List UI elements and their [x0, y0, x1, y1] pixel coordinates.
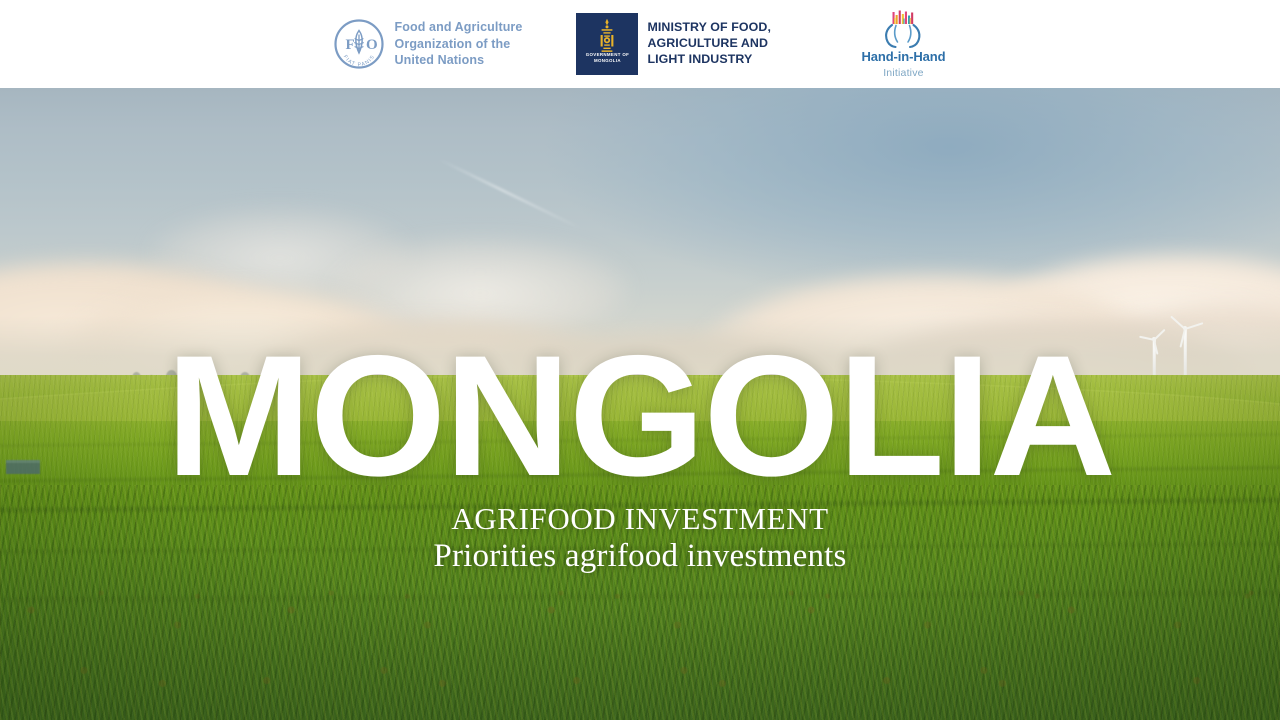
hand-in-hand-subtitle: Initiative — [883, 67, 924, 79]
hand-in-hand-logo: Hand-in-Hand Initiative — [861, 9, 945, 78]
hero-title-block: MONGOLIA — [0, 344, 1280, 488]
svg-text:FIAT PANIS: FIAT PANIS — [341, 54, 376, 68]
hero-subtitle-primary: AGRIFOOD INVESTMENT — [0, 502, 1280, 536]
fao-text-line-2: Organization of the — [395, 36, 523, 53]
logo-row: F O FIAT PANIS Food and Agriculture Orga… — [0, 0, 1280, 88]
hand-in-hand-hands-icon — [872, 9, 934, 49]
presentation-slide: F O FIAT PANIS Food and Agriculture Orga… — [0, 0, 1280, 720]
fao-text-line-1: Food and Agriculture — [395, 19, 523, 36]
ministry-logo: GOVERNMENT OF MONGOLIA MINISTRY OF FOOD,… — [576, 13, 807, 75]
hand-in-hand-name: Hand-in-Hand — [861, 50, 945, 64]
ministry-emblem-caption-line-2: MONGOLIA — [594, 58, 621, 63]
fao-text-line-3: United Nations — [395, 52, 523, 69]
svg-text:F: F — [345, 37, 354, 53]
grass-texture — [0, 565, 1280, 720]
ministry-emblem-caption-line-1: GOVERNMENT OF — [586, 52, 629, 57]
logo-header-bar: F O FIAT PANIS Food and Agriculture Orga… — [0, 0, 1280, 88]
hero-background-photo: MONGOLIA AGRIFOOD INVESTMENT Priorities … — [0, 88, 1280, 720]
fao-logo: F O FIAT PANIS Food and Agriculture Orga… — [333, 18, 523, 70]
ministry-emblem-caption: GOVERNMENT OF MONGOLIA — [576, 52, 638, 65]
page-title: MONGOLIA — [166, 344, 1115, 488]
svg-text:O: O — [366, 37, 378, 53]
fao-wheat-emblem-icon: F O FIAT PANIS — [333, 18, 385, 70]
hero-subtitle-secondary: Priorities agrifood investments — [0, 538, 1280, 574]
field-furrow — [0, 590, 1280, 603]
ministry-logo-text: MINISTRY OF FOOD, AGRICULTURE AND LIGHT … — [647, 20, 807, 67]
fao-logo-text: Food and Agriculture Organization of the… — [395, 19, 523, 69]
mongolia-soyombo-emblem-icon: GOVERNMENT OF MONGOLIA — [576, 13, 638, 75]
